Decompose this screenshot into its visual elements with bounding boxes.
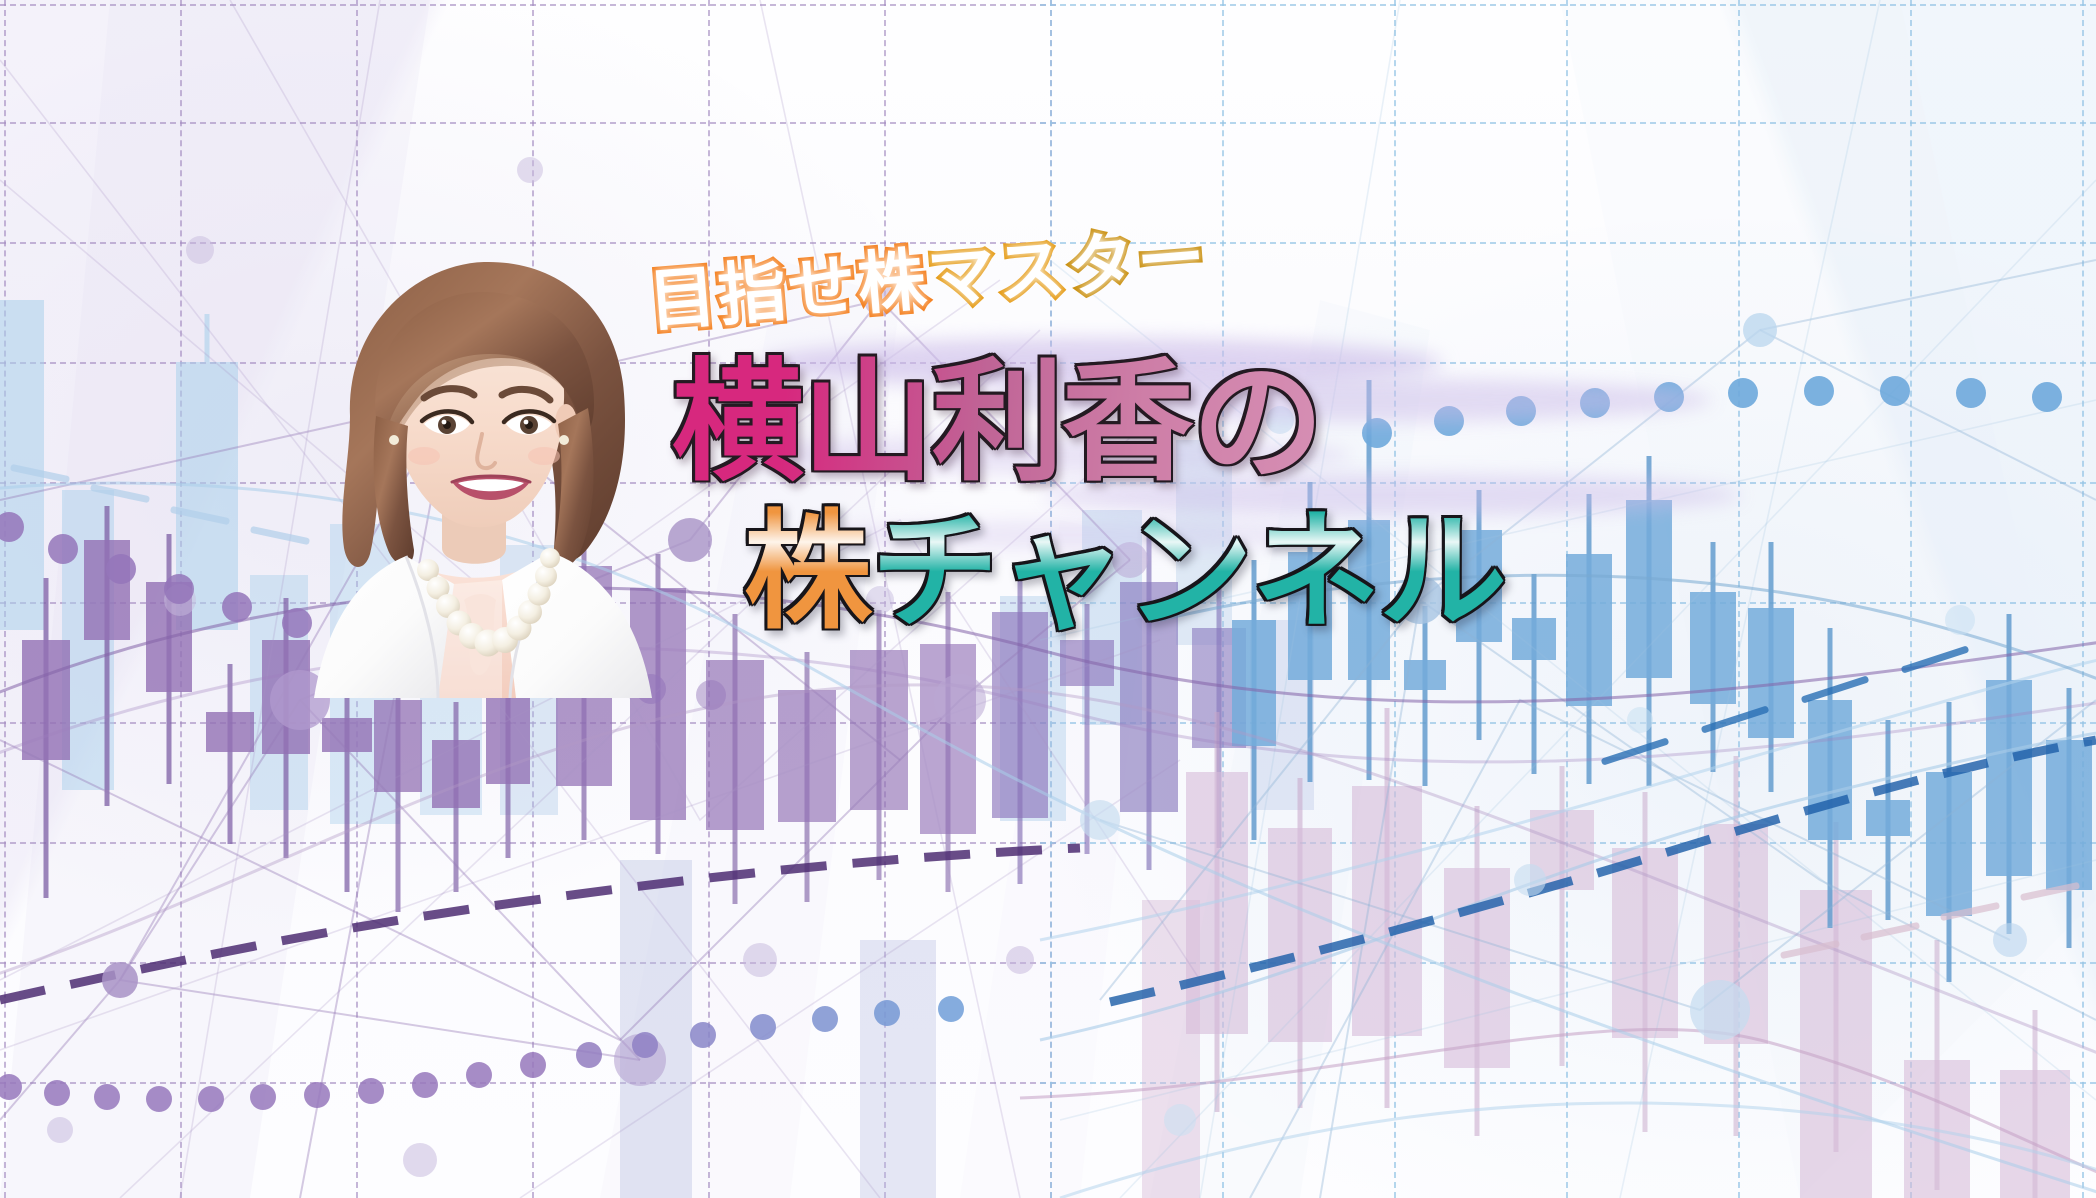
title-char-chi: チ	[871, 468, 998, 653]
title-char-ya: ャ	[998, 468, 1125, 653]
title-char-kabu: 株	[744, 468, 871, 653]
title-char-ne: ネ	[1252, 468, 1379, 653]
host-portrait	[258, 248, 673, 698]
earring-left	[389, 435, 399, 445]
title-char-ru: ル	[1379, 468, 1506, 653]
tagline-part-3: ター	[1064, 218, 1210, 308]
youtube-channel-banner: 目指せ株マスター 横山利香の 株 チ ャ ン ネ ル	[0, 0, 2096, 1198]
tagline-part-2: マス	[925, 229, 1071, 319]
earring-right	[559, 435, 569, 445]
dashed-trendline-purple	[0, 848, 1080, 1000]
title-char-n: ン	[1125, 468, 1252, 653]
channel-title-line-2: 株 チ ャ ン ネ ル	[744, 468, 1506, 653]
channel-title-block: 目指せ株マスター 横山利香の 株 チ ャ ン ネ ル	[612, 228, 1812, 658]
